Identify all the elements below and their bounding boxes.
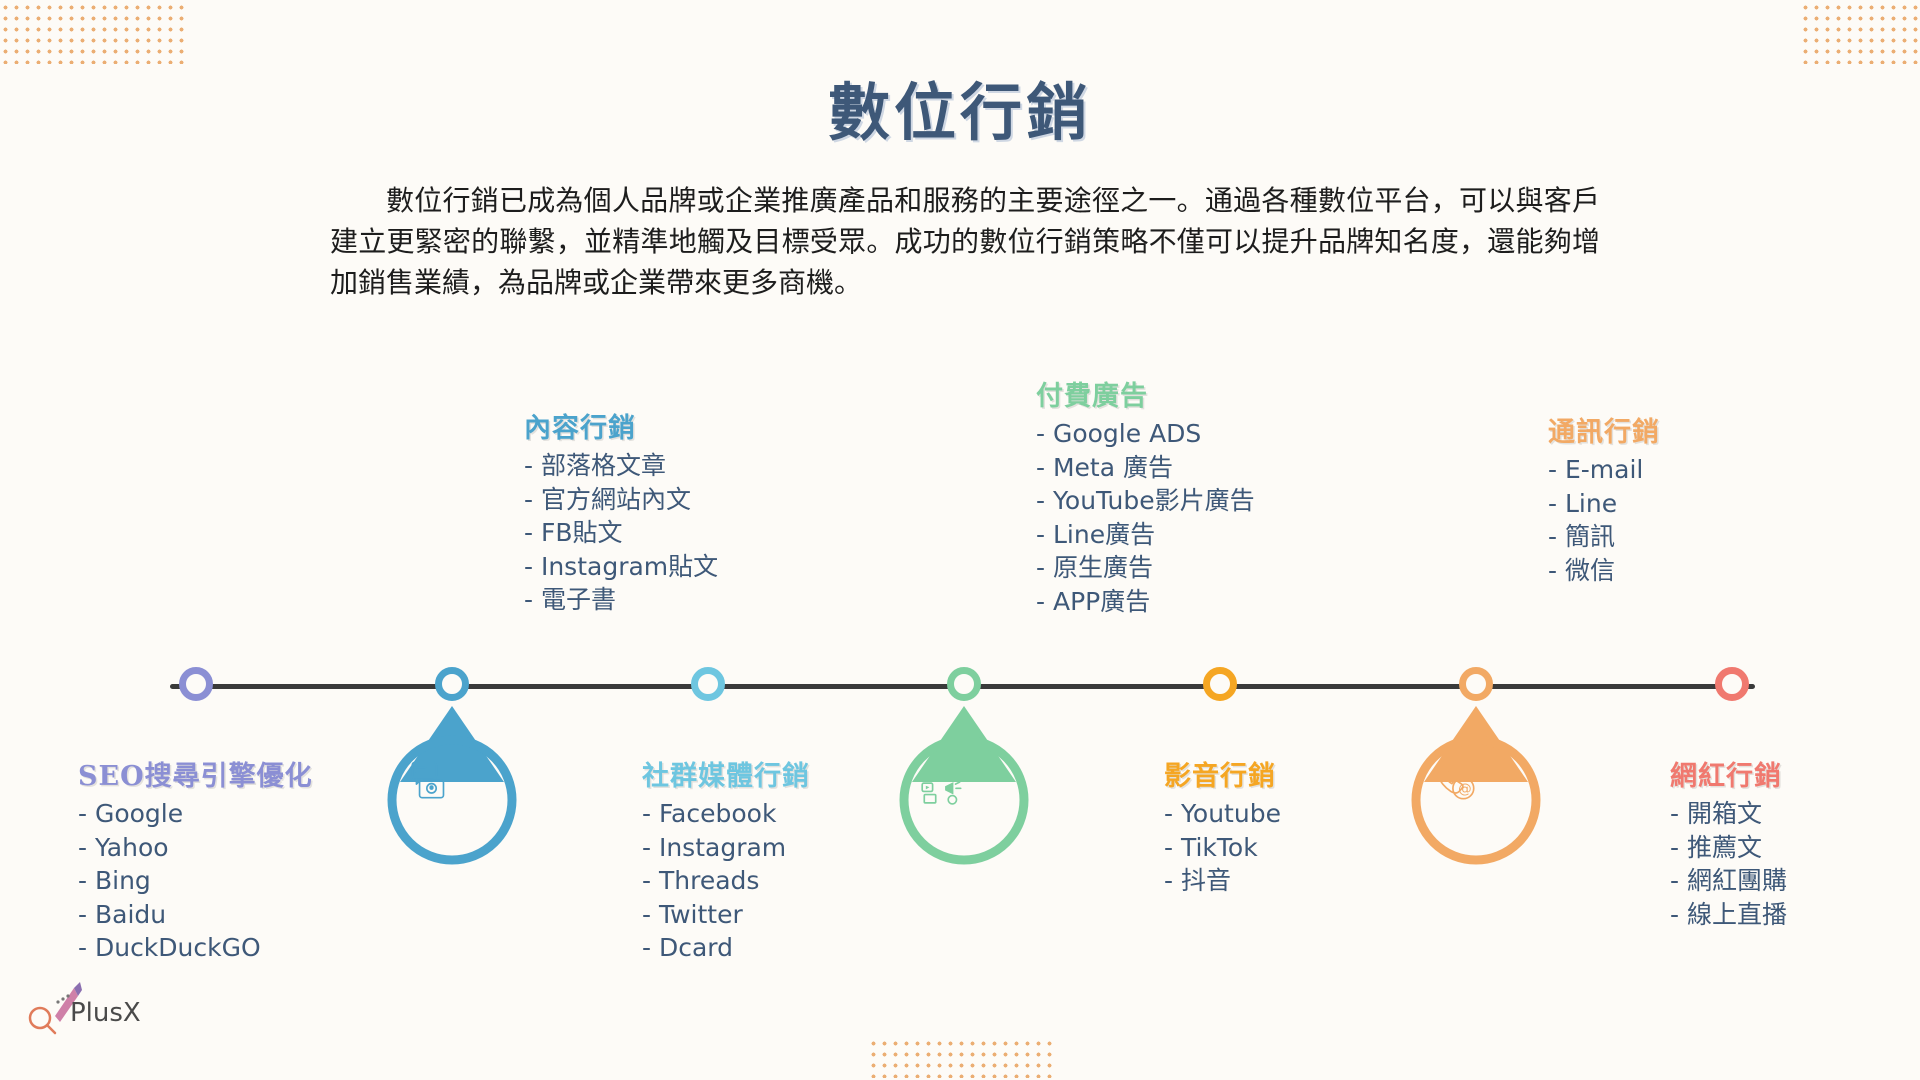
intro-text: 數位行銷已成為個人品牌或企業推廣產品和服務的主要途徑之一。通過各種數位平台，可以…	[330, 180, 1600, 303]
list-item: APP廣告	[1036, 585, 1286, 619]
brand-logo: PlusX	[22, 972, 162, 1042]
list-item: Line	[1548, 487, 1798, 521]
node-block-social-media-marketing: 社群媒體行銷FacebookInstagramThreadsTwitterDca…	[642, 754, 892, 965]
node-block-video-marketing: 影音行銷YoutubeTikTok抖音	[1164, 754, 1414, 898]
header: 數位行銷	[0, 62, 1920, 152]
pin-marker-communication-marketing: @	[1402, 702, 1550, 874]
list-item: Instagram	[642, 831, 892, 865]
list-item: Youtube	[1164, 797, 1414, 831]
list-item: DuckDuckGO	[78, 931, 328, 965]
list-item: Google	[78, 797, 328, 831]
node-title-influencer-marketing: 網紅行銷	[1670, 754, 1920, 793]
node-title-social-media-marketing: 社群媒體行銷	[642, 754, 892, 793]
node-list-influencer-marketing: 開箱文推薦文網紅團購線上直播	[1670, 797, 1920, 931]
list-item: 推薦文	[1670, 831, 1920, 865]
chat-bubbles-icon	[378, 702, 526, 874]
list-item: TikTok	[1164, 831, 1414, 865]
list-item: E-mail	[1548, 453, 1798, 487]
list-item: Dcard	[642, 931, 892, 965]
list-item: 簡訊	[1548, 520, 1798, 554]
node-title-content-marketing: 內容行銷	[524, 406, 774, 445]
intro-paragraph: 數位行銷已成為個人品牌或企業推廣產品和服務的主要途徑之一。通過各種數位平台，可以…	[330, 180, 1600, 303]
pin-marker-paid-ads: $	[890, 702, 1038, 874]
pin-marker-content-marketing	[378, 702, 526, 874]
list-item: 抖音	[1164, 864, 1414, 898]
megaphone-screen-icon: $	[890, 702, 1038, 874]
node-block-influencer-marketing: 網紅行銷開箱文推薦文網紅團購線上直播	[1670, 754, 1920, 931]
list-item: Facebook	[642, 797, 892, 831]
timeline-dot-paid-ads	[947, 667, 981, 701]
timeline-dot-influencer-marketing	[1715, 667, 1749, 701]
dot-pattern-bottom	[868, 1038, 1058, 1078]
node-list-communication-marketing: E-mailLine簡訊微信	[1548, 453, 1798, 587]
list-item: 線上直播	[1670, 898, 1920, 932]
brand-name: PlusX	[70, 998, 141, 1028]
list-item: Instagram貼文	[524, 550, 774, 584]
svg-text:$: $	[936, 769, 943, 780]
node-list-paid-ads: Google ADSMeta 廣告YouTube影片廣告Line廣告原生廣告AP…	[1036, 417, 1286, 618]
list-item: 開箱文	[1670, 797, 1920, 831]
node-block-communication-marketing: 通訊行銷E-mailLine簡訊微信	[1548, 410, 1798, 587]
list-item: Line廣告	[1036, 518, 1286, 552]
node-list-social-media-marketing: FacebookInstagramThreadsTwitterDcard	[642, 797, 892, 965]
dot-pattern-top-right	[1800, 2, 1920, 64]
list-item: 官方網站內文	[524, 483, 774, 517]
timeline-dot-content-marketing	[435, 667, 469, 701]
svg-text:@: @	[1458, 781, 1472, 797]
timeline-dot-seo	[179, 667, 213, 701]
node-block-seo: SEO搜尋引擎優化GoogleYahooBingBaiduDuckDuckGO	[78, 754, 328, 965]
list-item: Meta 廣告	[1036, 451, 1286, 485]
list-item: Threads	[642, 864, 892, 898]
list-item: Google ADS	[1036, 417, 1286, 451]
list-item: Bing	[78, 864, 328, 898]
node-title-communication-marketing: 通訊行銷	[1548, 410, 1798, 449]
node-title-seo: SEO搜尋引擎優化	[78, 754, 328, 793]
list-item: Twitter	[642, 898, 892, 932]
node-title-paid-ads: 付費廣告	[1036, 374, 1286, 413]
list-item: 網紅團購	[1670, 864, 1920, 898]
node-list-content-marketing: 部落格文章官方網站內文FB貼文Instagram貼文電子書	[524, 449, 774, 617]
list-item: 微信	[1548, 554, 1798, 588]
timeline-dot-social-media-marketing	[691, 667, 725, 701]
list-item: FB貼文	[524, 516, 774, 550]
list-item: 電子書	[524, 583, 774, 617]
dot-pattern-top-left	[0, 2, 190, 64]
phone-email-icon: @	[1402, 702, 1550, 874]
list-item: 部落格文章	[524, 449, 774, 483]
timeline-dot-video-marketing	[1203, 667, 1237, 701]
node-block-paid-ads: 付費廣告Google ADSMeta 廣告YouTube影片廣告Line廣告原生…	[1036, 374, 1286, 618]
list-item: Baidu	[78, 898, 328, 932]
list-item: YouTube影片廣告	[1036, 484, 1286, 518]
list-item: 原生廣告	[1036, 551, 1286, 585]
node-list-seo: GoogleYahooBingBaiduDuckDuckGO	[78, 797, 328, 965]
timeline-dot-communication-marketing	[1459, 667, 1493, 701]
node-title-video-marketing: 影音行銷	[1164, 754, 1414, 793]
node-list-video-marketing: YoutubeTikTok抖音	[1164, 797, 1414, 898]
node-block-content-marketing: 內容行銷部落格文章官方網站內文FB貼文Instagram貼文電子書	[524, 406, 774, 617]
page-title: 數位行銷	[0, 62, 1920, 152]
list-item: Yahoo	[78, 831, 328, 865]
